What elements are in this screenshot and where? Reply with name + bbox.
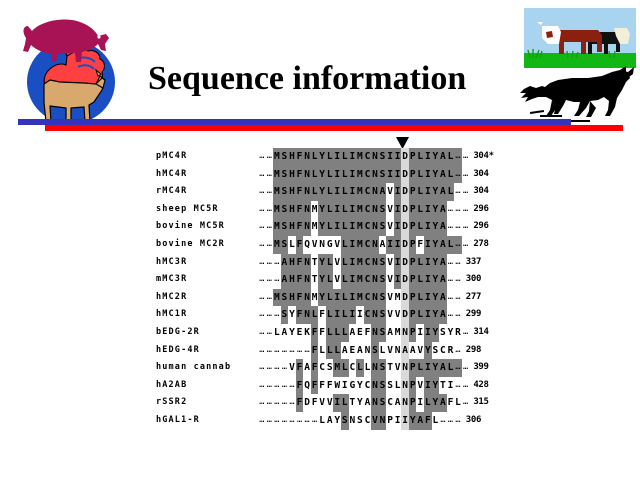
sequence-label: sheep MC5R	[156, 201, 258, 219]
residue-gap: …	[288, 412, 296, 430]
residue-cell: M	[356, 218, 364, 236]
residue-cell: A	[439, 201, 447, 219]
residue-cell: L	[326, 166, 334, 184]
residue-cell: M	[273, 201, 281, 219]
residue-cell: S	[379, 289, 387, 307]
residue-gap: …	[462, 201, 470, 219]
residue-gap: …	[454, 306, 462, 324]
residue-gap: …	[258, 236, 266, 254]
residue-cell: I	[333, 183, 341, 201]
residue-gap: …	[462, 166, 470, 184]
residue-cell: I	[416, 394, 424, 412]
residue-cell: Y	[432, 236, 440, 254]
residue-cell: S	[281, 166, 289, 184]
residue-cell: L	[341, 359, 349, 377]
residue-count: 314	[469, 324, 488, 342]
residue-cell: S	[341, 412, 349, 430]
residue-gap: …	[273, 394, 281, 412]
residue-cell: F	[311, 359, 319, 377]
alignment-row: bovine MC5R……MSHFNMYLILIMCNSVIDPLIYA………2…	[0, 218, 640, 236]
residue-cell: L	[447, 236, 455, 254]
residue-cell: A	[439, 254, 447, 272]
residue-cell: C	[364, 271, 372, 289]
residue-cell: N	[371, 377, 379, 395]
residue-cell: L	[288, 236, 296, 254]
residue-cell: Q	[303, 236, 311, 254]
residue-cell: I	[394, 148, 402, 166]
residue-count: 299	[462, 306, 481, 324]
sequence-label: bEDG-2R	[156, 324, 258, 342]
residue-cell: L	[447, 359, 455, 377]
residue-cell: P	[409, 254, 417, 272]
residue-cell: I	[424, 148, 432, 166]
residue-cell: T	[349, 394, 357, 412]
residue-cell: I	[356, 306, 364, 324]
sequence-residues: ……LAYEKFFLLLAEFNSAMNPIIYSYR…	[258, 324, 469, 342]
residue-cell: L	[416, 271, 424, 289]
residue-gap: …	[258, 359, 266, 377]
residue-cell: F	[311, 342, 319, 360]
residue-cell: N	[303, 218, 311, 236]
sequence-label: hMC4R	[156, 166, 258, 184]
residue-cell: V	[386, 201, 394, 219]
residue-cell: C	[349, 359, 357, 377]
residue-cell: I	[349, 271, 357, 289]
residue-cell: N	[303, 254, 311, 272]
residue-count: 428	[469, 377, 488, 395]
residue-gap: …	[454, 377, 462, 395]
residue-cell: R	[454, 324, 462, 342]
residue-cell: A	[281, 254, 289, 272]
residue-gap: …	[266, 306, 274, 324]
residue-cell: L	[311, 306, 319, 324]
sequence-residues: ……MSHFNLYLILIMCNAVIDPLIYAL……	[258, 183, 469, 201]
residue-gap: …	[273, 306, 281, 324]
residue-cell: V	[318, 394, 326, 412]
alignment-row: hGAL1-R……………………LAYSNSCVNPIIYAFL………306	[0, 412, 640, 430]
residue-cell: F	[424, 412, 432, 430]
residue-cell: P	[409, 183, 417, 201]
residue-count: 300	[462, 271, 481, 289]
residue-gap: …	[258, 218, 266, 236]
residue-cell: M	[273, 183, 281, 201]
residue-cell: A	[394, 394, 402, 412]
residue-cell: I	[424, 271, 432, 289]
residue-cell: N	[303, 148, 311, 166]
residue-cell: L	[416, 359, 424, 377]
residue-cell: M	[356, 148, 364, 166]
residue-cell: L	[326, 201, 334, 219]
residue-cell: V	[394, 359, 402, 377]
residue-cell: I	[394, 218, 402, 236]
residue-cell: L	[341, 271, 349, 289]
sequence-alignment: pMC4R……MSHFNLYLILIMCNSIIDPLIYAL……304*hMC…	[0, 134, 640, 480]
residue-gap: …	[266, 342, 274, 360]
residue-cell: Y	[432, 166, 440, 184]
residue-cell: S	[356, 412, 364, 430]
residue-gap: …	[447, 254, 455, 272]
residue-gap: …	[288, 377, 296, 395]
residue-cell: V	[386, 289, 394, 307]
residue-count: 304	[469, 183, 488, 201]
residue-cell: L	[364, 359, 372, 377]
residue-cell: M	[273, 289, 281, 307]
residue-cell: H	[288, 254, 296, 272]
residue-cell: I	[424, 166, 432, 184]
residue-cell: A	[439, 306, 447, 324]
residue-cell: N	[371, 324, 379, 342]
residue-cell: L	[326, 183, 334, 201]
residue-cell: F	[296, 236, 304, 254]
residue-cell: F	[296, 148, 304, 166]
sequence-label: human cannab	[156, 359, 258, 377]
residue-count: 337	[462, 254, 481, 272]
alignment-row: sheep MC5R……MSHFNMYLILIMCNSVIDPLIYA………29…	[0, 201, 640, 219]
residue-cell: I	[424, 289, 432, 307]
residue-cell: R	[447, 342, 455, 360]
residue-cell: L	[341, 324, 349, 342]
alignment-row: hMC1R………SYFNLFLILIICNSVVDPLIYA……299	[0, 306, 640, 324]
residue-cell: P	[386, 412, 394, 430]
residue-gap: …	[311, 412, 319, 430]
residue-gap: …	[454, 166, 462, 184]
residue-cell: I	[424, 218, 432, 236]
residue-cell: H	[288, 271, 296, 289]
residue-cell: I	[333, 394, 341, 412]
residue-cell: N	[401, 359, 409, 377]
sequence-residues: ……………FQFFFWIGYCNSSLNPVIYTI……	[258, 377, 469, 395]
alignment-row: mMC3R………AHFNTYLVLIMCNSVIDPLIYA……300	[0, 271, 640, 289]
residue-count: 306	[462, 412, 481, 430]
residue-cell: Y	[432, 289, 440, 307]
residue-gap: …	[266, 236, 274, 254]
residue-gap: …	[281, 359, 289, 377]
residue-cell: L	[326, 254, 334, 272]
residue-cell: N	[303, 289, 311, 307]
residue-cell: F	[318, 324, 326, 342]
residue-cell: N	[371, 359, 379, 377]
residue-cell: A	[281, 271, 289, 289]
residue-gap: …	[273, 359, 281, 377]
conserved-position-marker	[396, 136, 409, 148]
residue-cell: N	[379, 412, 387, 430]
residue-cell: L	[416, 201, 424, 219]
residue-gap: …	[454, 254, 462, 272]
residue-cell: N	[371, 201, 379, 219]
residue-gap: …	[462, 218, 470, 236]
residue-gap: …	[454, 148, 462, 166]
residue-cell: N	[371, 271, 379, 289]
residue-cell: L	[341, 306, 349, 324]
residue-cell: L	[341, 148, 349, 166]
residue-cell: F	[296, 254, 304, 272]
residue-cell: L	[379, 342, 387, 360]
residue-cell: S	[379, 166, 387, 184]
residue-cell: I	[349, 218, 357, 236]
residue-cell: V	[416, 377, 424, 395]
residue-cell: V	[333, 271, 341, 289]
residue-gap: …	[273, 271, 281, 289]
residue-cell: L	[333, 324, 341, 342]
residue-cell: I	[424, 306, 432, 324]
residue-cell: I	[424, 201, 432, 219]
residue-gap: …	[258, 342, 266, 360]
residue-cell: N	[303, 271, 311, 289]
alignment-row: hEDG-4R…………………FLLLAEANSLVNAAVYSCR…298	[0, 342, 640, 360]
residue-cell: L	[341, 201, 349, 219]
residue-cell: P	[409, 324, 417, 342]
residue-cell: F	[296, 183, 304, 201]
residue-cell: A	[439, 359, 447, 377]
residue-cell: N	[371, 236, 379, 254]
residue-gap: …	[454, 412, 462, 430]
residue-cell: C	[318, 359, 326, 377]
residue-cell: L	[416, 218, 424, 236]
residue-cell: I	[394, 412, 402, 430]
residue-cell: N	[371, 306, 379, 324]
residue-gap: …	[258, 148, 266, 166]
residue-cell: L	[326, 324, 334, 342]
residue-cell: C	[364, 166, 372, 184]
residue-cell: H	[288, 289, 296, 307]
residue-cell: Q	[303, 377, 311, 395]
residue-gap: …	[273, 412, 281, 430]
residue-cell: I	[349, 289, 357, 307]
residue-gap: …	[462, 324, 470, 342]
residue-cell: T	[439, 377, 447, 395]
residue-cell: I	[394, 254, 402, 272]
residue-cell: H	[288, 201, 296, 219]
residue-cell: M	[311, 289, 319, 307]
residue-cell: F	[296, 359, 304, 377]
residue-cell: C	[364, 412, 372, 430]
residue-count: 296	[469, 201, 488, 219]
residue-gap: …	[266, 271, 274, 289]
residue-cell: Y	[432, 377, 440, 395]
residue-cell: S	[379, 148, 387, 166]
residue-cell: A	[439, 394, 447, 412]
residue-cell: M	[311, 218, 319, 236]
residue-cell: S	[281, 236, 289, 254]
residue-cell: A	[386, 324, 394, 342]
cattle-photo	[524, 8, 636, 68]
residue-cell: N	[303, 306, 311, 324]
residue-cell: I	[394, 166, 402, 184]
sequence-residues: ……MSLFQVNGVLIMCNAIIDPFIYAL……	[258, 236, 469, 254]
residue-cell: L	[326, 218, 334, 236]
residue-cell: V	[386, 218, 394, 236]
cattle-photo-artwork	[524, 8, 636, 68]
residue-cell: G	[326, 236, 334, 254]
residue-gap: …	[454, 236, 462, 254]
residue-cell: I	[341, 377, 349, 395]
residue-gap: …	[258, 201, 266, 219]
residue-cell: S	[379, 271, 387, 289]
residue-cell: C	[364, 148, 372, 166]
residue-cell: F	[311, 377, 319, 395]
sequence-label: hGAL1-R	[156, 412, 258, 430]
residue-cell: D	[401, 201, 409, 219]
sequence-residues: …………………FLLLAEANSLVNAAVYSCR…	[258, 342, 462, 360]
residue-count: 315	[469, 394, 488, 412]
residue-gap: …	[462, 148, 470, 166]
sequence-residues: ………SYFNLFLILIICNSVVDPLIYA……	[258, 306, 462, 324]
residue-cell: I	[424, 236, 432, 254]
residue-cell: S	[281, 218, 289, 236]
residue-cell: V	[311, 236, 319, 254]
residue-cell: N	[349, 412, 357, 430]
residue-cell: E	[296, 324, 304, 342]
residue-cell: D	[401, 271, 409, 289]
residue-cell: L	[416, 183, 424, 201]
residue-cell: L	[326, 289, 334, 307]
residue-cell: I	[333, 148, 341, 166]
residue-cell: M	[394, 324, 402, 342]
residue-cell: A	[303, 359, 311, 377]
horse-artwork	[516, 66, 636, 124]
residue-cell: M	[356, 289, 364, 307]
residue-cell: Y	[409, 412, 417, 430]
residue-cell: V	[386, 271, 394, 289]
residue-cell: L	[341, 254, 349, 272]
residue-cell: F	[296, 218, 304, 236]
residue-cell: C	[439, 342, 447, 360]
residue-cell: Y	[356, 394, 364, 412]
residue-cell: A	[379, 236, 387, 254]
residue-cell: F	[311, 324, 319, 342]
residue-gap: …	[258, 412, 266, 430]
residue-cell: M	[273, 166, 281, 184]
residue-cell: Y	[318, 254, 326, 272]
residue-gap: …	[258, 324, 266, 342]
residue-count: 304*	[469, 148, 493, 166]
residue-gap: …	[454, 271, 462, 289]
residue-cell: D	[401, 183, 409, 201]
residue-gap: …	[447, 412, 455, 430]
residue-cell: A	[349, 324, 357, 342]
logo-artwork	[10, 4, 132, 126]
divider-red	[45, 125, 623, 131]
residue-cell: M	[273, 236, 281, 254]
residue-gap: …	[281, 394, 289, 412]
sequence-label: bovine MC5R	[156, 218, 258, 236]
residue-cell: L	[394, 377, 402, 395]
residue-cell: L	[341, 289, 349, 307]
residue-cell: T	[311, 271, 319, 289]
residue-cell: H	[288, 166, 296, 184]
residue-cell: Y	[318, 271, 326, 289]
residue-cell: L	[311, 166, 319, 184]
residue-cell: N	[371, 183, 379, 201]
residue-cell: F	[296, 377, 304, 395]
residue-cell: L	[341, 183, 349, 201]
residue-cell: M	[333, 359, 341, 377]
residue-gap: …	[462, 394, 470, 412]
residue-cell: L	[326, 306, 334, 324]
residue-cell: H	[288, 183, 296, 201]
residue-cell: I	[394, 201, 402, 219]
residue-cell: N	[371, 254, 379, 272]
alignment-rows: pMC4R……MSHFNLYLILIMCNSIIDPLIYAL……304*hMC…	[0, 148, 640, 430]
residue-cell: M	[356, 183, 364, 201]
residue-gap: …	[281, 377, 289, 395]
residue-cell: N	[371, 218, 379, 236]
residue-cell: L	[341, 166, 349, 184]
residue-cell: V	[386, 342, 394, 360]
residue-cell: P	[409, 394, 417, 412]
residue-cell: I	[386, 148, 394, 166]
residue-cell: I	[424, 183, 432, 201]
residue-gap: …	[258, 394, 266, 412]
residue-count: 278	[469, 236, 488, 254]
residue-cell: Y	[432, 359, 440, 377]
residue-cell: L	[447, 166, 455, 184]
residue-cell: F	[296, 166, 304, 184]
residue-cell: M	[311, 201, 319, 219]
residue-cell: P	[409, 201, 417, 219]
residue-cell: M	[356, 201, 364, 219]
sequence-residues: ……………………LAYSNSCVNPIIYAFL………	[258, 412, 462, 430]
residue-gap: …	[266, 148, 274, 166]
residue-count: 296	[469, 218, 488, 236]
residue-gap: …	[296, 412, 304, 430]
residue-gap: …	[266, 394, 274, 412]
residue-cell: L	[326, 271, 334, 289]
residue-cell: N	[371, 148, 379, 166]
residue-gap: …	[266, 324, 274, 342]
residue-cell: Y	[432, 254, 440, 272]
residue-cell: I	[394, 271, 402, 289]
residue-cell: S	[439, 324, 447, 342]
residue-cell: C	[364, 254, 372, 272]
residue-cell: D	[401, 236, 409, 254]
residue-cell: I	[386, 166, 394, 184]
residue-cell: M	[356, 271, 364, 289]
residue-cell: C	[364, 218, 372, 236]
residue-cell: C	[364, 236, 372, 254]
residue-cell: N	[401, 324, 409, 342]
residue-cell: A	[401, 342, 409, 360]
residue-cell: M	[356, 236, 364, 254]
residue-gap: …	[266, 289, 274, 307]
residue-cell: P	[409, 289, 417, 307]
residue-gap: …	[296, 342, 304, 360]
residue-gap: …	[288, 342, 296, 360]
residue-cell: L	[311, 148, 319, 166]
residue-gap: …	[439, 412, 447, 430]
sequence-residues: ……MSHFNMYLILIMCNSVIDPLIYA………	[258, 218, 469, 236]
residue-cell: M	[356, 166, 364, 184]
alignment-row: human cannab…………VFAFCSMLCLLNSTVNPLIYAL………	[0, 359, 640, 377]
residue-cell: L	[341, 218, 349, 236]
residue-cell: A	[409, 342, 417, 360]
residue-cell: L	[424, 394, 432, 412]
sequence-label: hEDG-4R	[156, 342, 258, 360]
alignment-row: hA2AB……………FQFFFWIGYCNSSLNPVIYTI……428	[0, 377, 640, 395]
residue-gap: …	[266, 377, 274, 395]
residue-cell: S	[379, 324, 387, 342]
residue-gap: …	[266, 201, 274, 219]
residue-gap: …	[273, 254, 281, 272]
residue-gap: …	[462, 377, 470, 395]
residue-cell: D	[303, 394, 311, 412]
residue-cell: P	[409, 271, 417, 289]
residue-gap: …	[462, 183, 470, 201]
residue-cell: F	[296, 271, 304, 289]
residue-cell: Y	[288, 324, 296, 342]
residue-gap: …	[273, 377, 281, 395]
residue-cell: I	[349, 254, 357, 272]
